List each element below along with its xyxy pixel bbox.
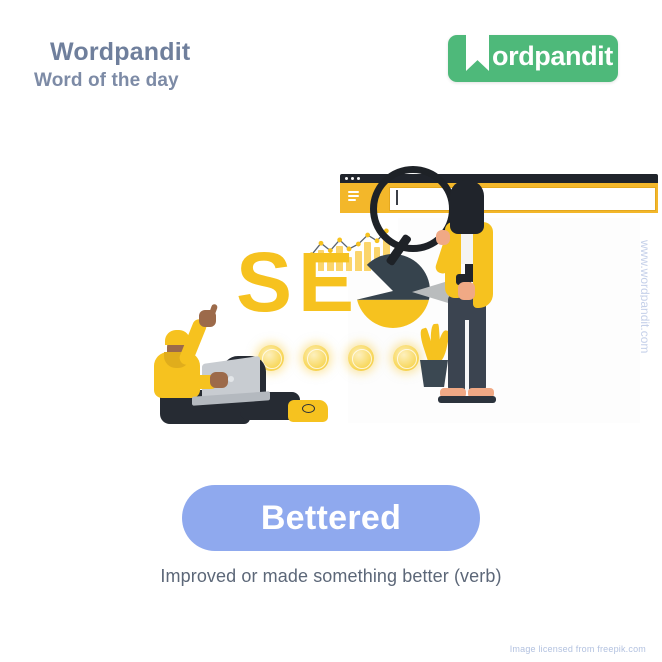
wordpandit-logo[interactable]: ordpandit bbox=[448, 35, 618, 82]
page-subtitle: Word of the day bbox=[34, 70, 179, 92]
coin-icon bbox=[303, 345, 329, 371]
woman-shoe bbox=[438, 396, 496, 403]
window-dot-icon bbox=[351, 177, 354, 180]
woman-hand bbox=[458, 282, 475, 300]
woman-hand bbox=[436, 230, 450, 245]
logo-text: ordpandit bbox=[492, 41, 613, 72]
potted-plant-icon bbox=[420, 360, 448, 387]
laptop-logo bbox=[228, 376, 234, 382]
poster-canvas: www.wordpandit.comwww.wordpandit.comwww.… bbox=[0, 0, 662, 662]
word-meaning: Improved or made something better (verb) bbox=[0, 566, 662, 587]
hamburger-icon[interactable] bbox=[348, 199, 356, 201]
man-pointing-finger bbox=[208, 303, 218, 318]
woman-leg-split bbox=[465, 320, 469, 392]
seo-illustration: </> SE bbox=[140, 160, 530, 435]
page-title: Wordpandit bbox=[50, 38, 190, 67]
coin-icon bbox=[393, 345, 419, 371]
image-credit: Image licensed from freepik.com bbox=[510, 644, 646, 654]
hamburger-icon[interactable] bbox=[348, 195, 359, 197]
woman-hair bbox=[450, 180, 484, 234]
woman-jacket-right bbox=[473, 222, 493, 308]
window-dot-icon bbox=[357, 177, 360, 180]
man-hand bbox=[210, 372, 228, 388]
hamburger-icon[interactable] bbox=[348, 191, 359, 193]
word-text: Bettered bbox=[261, 499, 401, 538]
bookmark-icon bbox=[466, 29, 489, 71]
browser-menu-panel bbox=[340, 183, 366, 213]
coin-icon bbox=[348, 345, 374, 371]
word-of-the-day-pill: Bettered bbox=[182, 485, 480, 551]
window-dot-icon bbox=[345, 177, 348, 180]
seo-headline: SE bbox=[236, 240, 360, 324]
man-shoe-lace bbox=[302, 404, 315, 413]
